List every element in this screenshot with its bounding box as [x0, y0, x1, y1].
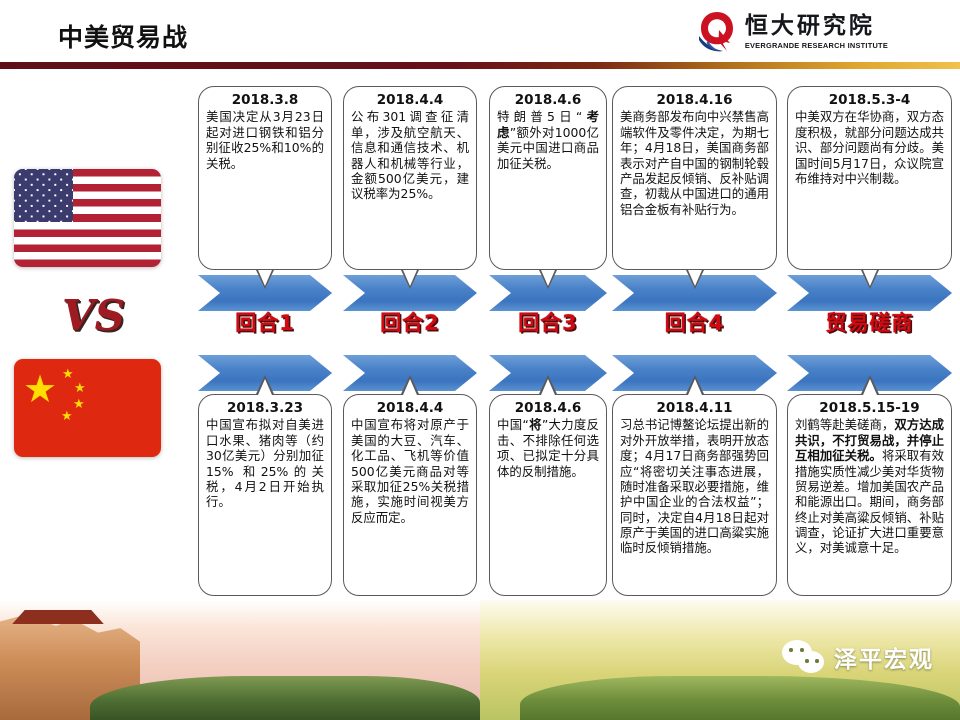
- bubble-text: 中国“将”大力度反击、不排除任何选项、已拟定十分具体的反制措施。: [497, 417, 599, 479]
- bubble-date: 2018.4.4: [351, 400, 469, 416]
- us-event-bubble-2: 2018.4.4公布301调查征清单，涉及航空航天、信息和通信技术、机器人和机械…: [343, 86, 477, 270]
- bubble-text: 公布301调查征清单，涉及航空航天、信息和通信技术、机器人和机械等行业，金额50…: [351, 109, 469, 201]
- page-footer: 泽平宏观: [0, 600, 960, 720]
- cn-bubble-tail-4: [686, 375, 704, 394]
- header-divider: [0, 62, 960, 69]
- villa-roof: [6, 610, 110, 624]
- us-flag-canton: [14, 169, 73, 222]
- page-header: 中美贸易战 恒大研究院 EVERGRANDE RESEARCH INSTITUT…: [0, 0, 960, 62]
- cn-flag-star-large: ★: [23, 371, 57, 409]
- bubble-text: 习总书记博鳌论坛提出新的对外开放举措，表明开放态度；4月17日商务部强势回应“将…: [620, 417, 769, 555]
- bubble-text: 中国宣布将对原产于美国的大豆、汽车、化工品、飞机等价值500亿美元商品对等采取加…: [351, 417, 469, 525]
- us-flag: [14, 169, 161, 267]
- wechat-account-name: 泽平宏观: [834, 640, 934, 674]
- evergrande-logo-icon: [697, 10, 737, 54]
- us-bubble-tail-4: [686, 270, 704, 289]
- cn-bubble-tail-1: [256, 375, 274, 394]
- cn-flag-star-small-2: ★: [74, 381, 86, 394]
- us-event-bubble-3: 2018.4.6特朗普5日“考虑”额外对1000亿美元中国进口商品加征关税。: [489, 86, 607, 270]
- us-bubble-tail-3: [539, 270, 557, 289]
- cn-event-bubble-5: 2018.5.15-19刘鹤等赴美磋商，双方达成共识，不打贸易战，并停止互相加征…: [787, 394, 952, 596]
- timeline-stage: VS ★ ★ ★ ★ ★ 回合1回合2回合3回合4贸易磋商 2018.3.8美国…: [0, 69, 960, 600]
- brand-logo: 恒大研究院 EVERGRANDE RESEARCH INSTITUTE: [697, 10, 888, 54]
- cn-event-bubble-2: 2018.4.4中国宣布将对原产于美国的大豆、汽车、化工品、飞机等价值500亿美…: [343, 394, 477, 596]
- bubble-date: 2018.3.8: [206, 92, 324, 108]
- wechat-dot-2: [800, 648, 804, 652]
- bubble-text: 中国宣布拟对自美进口水果、猪肉等（约30亿美元）分别加征 15% 和25%的关税…: [206, 417, 324, 509]
- cn-flag-star-small-1: ★: [62, 367, 74, 380]
- cn-event-bubble-3: 2018.4.6中国“将”大力度反击、不排除任何选项、已拟定十分具体的反制措施。: [489, 394, 607, 596]
- bubble-date: 2018.5.15-19: [795, 400, 944, 416]
- us-event-bubble-1: 2018.3.8美国决定从3月23日起对进口钢铁和铝分别征收25%和10%的关税…: [198, 86, 332, 270]
- cn-event-bubble-4: 2018.4.11习总书记博鳌论坛提出新的对外开放举措，表明开放态度；4月17日…: [612, 394, 777, 596]
- bubble-date: 2018.4.6: [497, 400, 599, 416]
- cn-flag-star-small-4: ★: [61, 409, 73, 422]
- wechat-account-badge: 泽平宏观: [782, 640, 934, 674]
- us-bubble-tail-2: [401, 270, 419, 289]
- bubble-date: 2018.4.16: [620, 92, 769, 108]
- bubble-text: 中美双方在华协商，双方态度积极，就部分问题达成共识、部分问题尚有分歧。美国时间5…: [795, 109, 944, 186]
- bubble-text: 刘鹤等赴美磋商，双方达成共识，不打贸易战，并停止互相加征关税。将采取有效措施实质…: [795, 417, 944, 555]
- wechat-dot-4: [815, 659, 819, 663]
- wechat-dot-3: [805, 659, 809, 663]
- bubble-date: 2018.3.23: [206, 400, 324, 416]
- logo-name-cn: 恒大研究院: [745, 14, 875, 38]
- cn-event-bubble-1: 2018.3.23中国宣布拟对自美进口水果、猪肉等（约30亿美元）分别加征 15…: [198, 394, 332, 596]
- wechat-bubble-small: [798, 651, 824, 673]
- wechat-dot-1: [789, 648, 793, 652]
- round-label-2: 回合2: [380, 307, 440, 337]
- bubble-text: 特朗普5日“考虑”额外对1000亿美元中国进口商品加征关税。: [497, 109, 599, 171]
- cn-flag: ★ ★ ★ ★ ★: [14, 359, 161, 457]
- footer-foliage-left: [90, 676, 480, 720]
- round-label-1: 回合1: [235, 307, 295, 337]
- bubble-date: 2018.5.3-4: [795, 92, 944, 108]
- us-bubble-tail-5: [861, 270, 879, 289]
- us-event-bubble-5: 2018.5.3-4中美双方在华协商，双方态度积极，就部分问题达成共识、部分问题…: [787, 86, 952, 270]
- wechat-icon: [782, 640, 826, 674]
- page-title: 中美贸易战: [58, 18, 188, 54]
- us-bubble-tail-1: [256, 270, 274, 289]
- logo-text: 恒大研究院 EVERGRANDE RESEARCH INSTITUTE: [745, 14, 888, 49]
- cn-bubble-tail-2: [401, 375, 419, 394]
- logo-name-en: EVERGRANDE RESEARCH INSTITUTE: [745, 41, 888, 50]
- round-label-4: 回合4: [665, 307, 725, 337]
- bubble-date: 2018.4.4: [351, 92, 469, 108]
- bubble-text: 美国决定从3月23日起对进口钢铁和铝分别征收25%和10%的关税。: [206, 109, 324, 171]
- us-event-bubble-4: 2018.4.16美商务部发布向中兴禁售高端软件及零件决定，为期七年；4月18日…: [612, 86, 777, 270]
- round-label-3: 回合3: [518, 307, 578, 337]
- vs-label: VS: [62, 291, 125, 340]
- cn-flag-star-small-3: ★: [73, 397, 85, 410]
- bubble-text: 美商务部发布向中兴禁售高端软件及零件决定，为期七年；4月18日，美国商务部表示对…: [620, 109, 769, 217]
- cn-bubble-tail-5: [861, 375, 879, 394]
- cn-bubble-tail-3: [539, 375, 557, 394]
- bubble-date: 2018.4.6: [497, 92, 599, 108]
- us-flag-stars: [14, 169, 73, 222]
- bubble-date: 2018.4.11: [620, 400, 769, 416]
- round-label-5: 贸易磋商: [826, 307, 914, 337]
